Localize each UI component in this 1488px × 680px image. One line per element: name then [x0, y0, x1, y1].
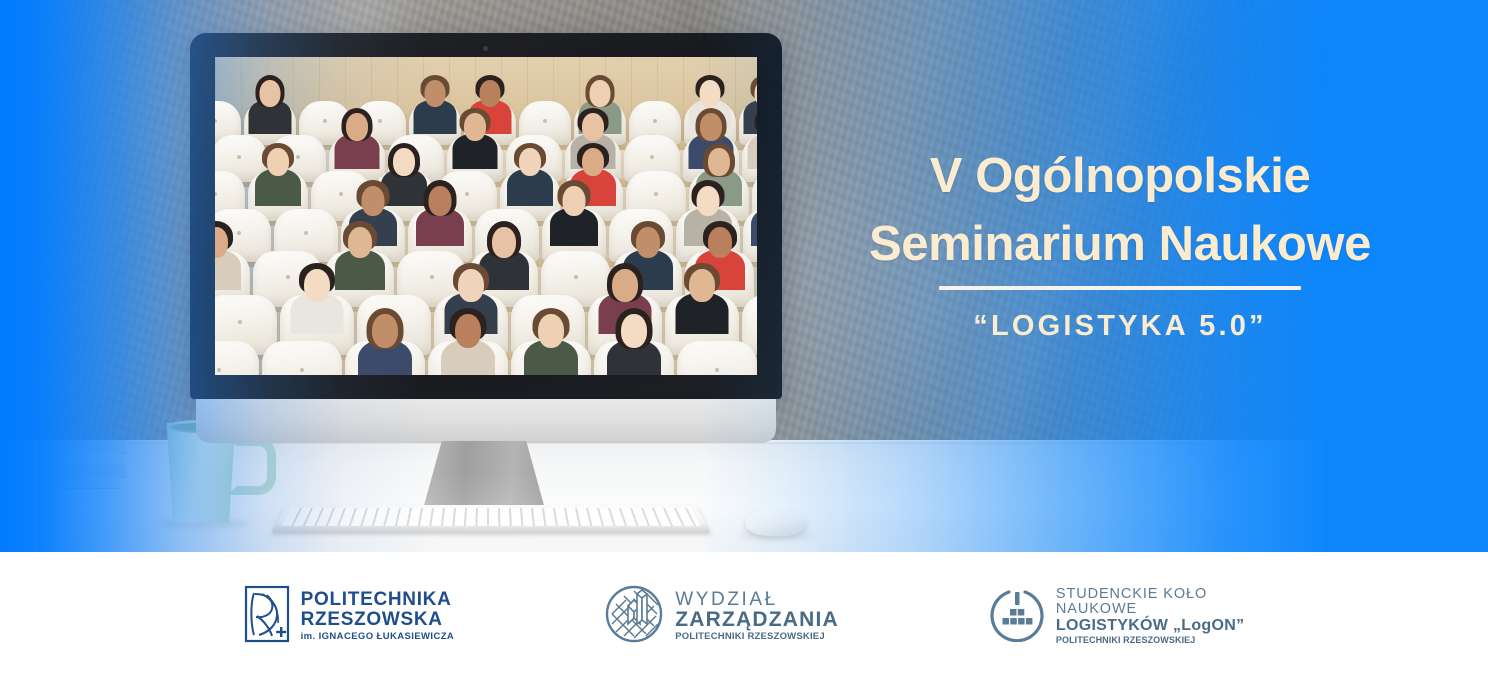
logo-wydzial-zarzadzania[interactable]: WYDZIAŁ ZARZĄDZANIA POLITECHNIKI RZESZOW…	[604, 584, 839, 649]
hero-photo: V Ogólnopolskie Seminarium Naukowe “LOGI…	[0, 0, 1488, 552]
participant-face	[260, 80, 281, 107]
participant-face	[455, 314, 481, 348]
title-block: V Ogólnopolskie Seminarium Naukowe “LOGI…	[796, 142, 1444, 343]
participant-face	[582, 113, 604, 141]
title-divider	[939, 286, 1301, 290]
participant-face	[621, 314, 647, 348]
participant-tile	[344, 108, 371, 175]
pr-logo-text: POLITECHNIKA RZESZOWSKA im. IGNACEGO ŁUK…	[301, 590, 455, 642]
participant-face	[372, 314, 398, 348]
auditorium-seat	[262, 341, 342, 375]
participant-tile	[516, 143, 544, 213]
participant-tile	[686, 263, 718, 342]
participant-face	[464, 113, 486, 141]
participant-tile	[345, 221, 375, 297]
logo-skn-logon[interactable]: STUDENCKIE KOŁO NAUKOWE LOGISTYKÓW „LogO…	[989, 586, 1245, 647]
participant-face	[519, 148, 541, 176]
participant-face	[689, 269, 715, 302]
participant-tile	[215, 221, 231, 297]
participant-face	[348, 227, 372, 258]
participant-face	[480, 80, 501, 107]
logon-logo-text: STUDENCKIE KOŁO NAUKOWE LOGISTYKÓW „LogO…	[1056, 587, 1245, 645]
participant-face	[708, 148, 730, 176]
participant-face	[636, 227, 660, 258]
logon-line-3: LOGISTYKÓW „LogON”	[1056, 618, 1245, 635]
participant-face	[582, 148, 604, 176]
wz-logo-text: WYDZIAŁ ZARZĄDZANIA POLITECHNIKI RZESZOW…	[675, 590, 839, 642]
participant-tile	[390, 143, 418, 213]
participant-tile	[462, 108, 489, 175]
participant-face	[346, 113, 368, 141]
pr-monogram-icon	[244, 585, 290, 648]
monitor-bezel	[190, 33, 782, 399]
participant-face	[429, 186, 452, 216]
wz-line-2: ZARZĄDZANIA	[675, 609, 839, 631]
logon-line-2: NAUKOWE	[1056, 602, 1245, 617]
webcam-icon	[483, 46, 488, 51]
participant-face	[700, 113, 722, 141]
logo-politechnika-rzeszowska[interactable]: POLITECHNIKA RZESZOWSKA im. IGNACEGO ŁUK…	[244, 585, 455, 648]
participant-face	[612, 269, 638, 302]
wz-line-1: WYDZIAŁ	[675, 590, 839, 610]
pallet-circle-icon	[989, 586, 1045, 647]
seminar-poster: V Ogólnopolskie Seminarium Naukowe “LOGI…	[0, 0, 1488, 680]
participant-tile	[560, 180, 589, 253]
title-line-2: Seminarium Naukowe	[796, 210, 1444, 278]
auditorium-seat	[215, 341, 259, 375]
pr-line-1: POLITECHNIKA	[301, 590, 455, 610]
participant-face	[362, 186, 385, 216]
participant-face	[425, 80, 446, 107]
lattice-circle-icon	[604, 584, 664, 649]
pr-line-3: im. IGNACEGO ŁUKASIEWICZA	[301, 632, 455, 642]
participant-face	[492, 227, 516, 258]
participant-tile	[426, 180, 455, 253]
subtitle: “LOGISTYKA 5.0”	[796, 310, 1444, 343]
participant-tile	[452, 308, 485, 375]
participant-face	[708, 227, 732, 258]
auditorium-seat	[677, 341, 757, 375]
participant-face	[393, 148, 415, 176]
title-line-1: V Ogólnopolskie	[796, 142, 1444, 210]
participant-face	[590, 80, 611, 107]
wz-line-3: POLITECHNIKI RZESZOWSKIEJ	[675, 632, 839, 642]
participant-face	[563, 186, 586, 216]
participant-tile	[301, 263, 333, 342]
footer-logo-bar: POLITECHNIKA RZESZOWSKA im. IGNACEGO ŁUK…	[0, 552, 1488, 680]
participant-tile	[489, 221, 519, 297]
participant-tile	[264, 143, 292, 213]
participant-face	[538, 314, 564, 348]
participant-face	[458, 269, 484, 302]
participant-face	[697, 186, 720, 216]
participant-tile	[535, 308, 568, 375]
logon-line-4: POLITECHNIKI RZESZOWSKIEJ	[1056, 636, 1245, 646]
participant-face	[700, 80, 721, 107]
participant-tile	[257, 75, 283, 140]
participant-tile	[618, 308, 651, 375]
participant-tile	[369, 308, 402, 375]
monitor-screen	[215, 57, 757, 375]
participant-tile	[422, 75, 448, 140]
participant-face	[267, 148, 289, 176]
logon-line-1: STUDENCKIE KOŁO	[1056, 587, 1245, 602]
participant-face	[304, 269, 330, 302]
participant-tile	[757, 108, 758, 175]
pr-line-2: RZESZOWSKA	[301, 610, 455, 630]
